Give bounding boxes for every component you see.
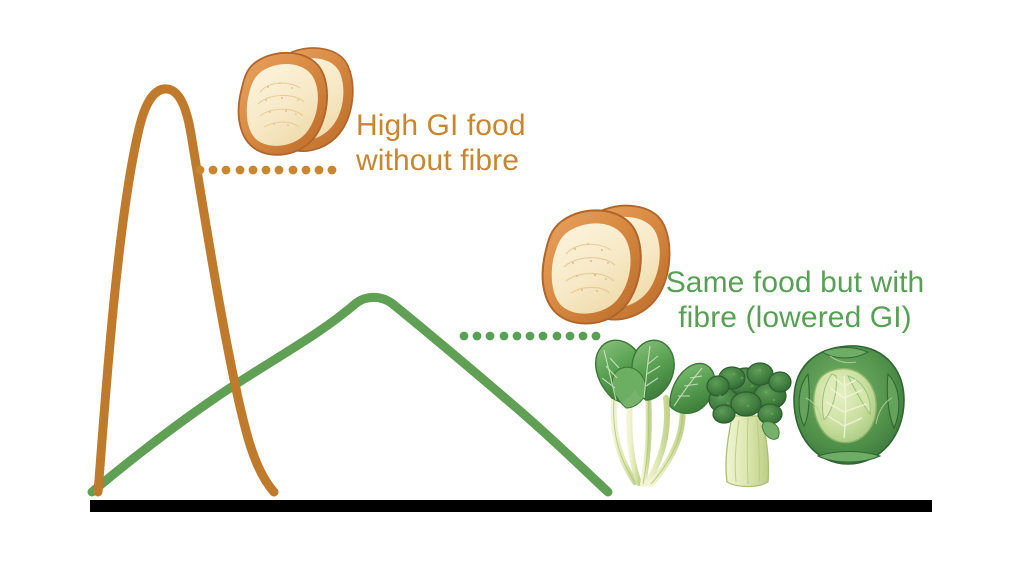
bread-slices-illustration bbox=[230, 38, 360, 166]
axis-baseline bbox=[90, 500, 932, 512]
cabbage-illustration bbox=[788, 340, 910, 470]
curve-low-gi bbox=[92, 297, 608, 492]
broccoli-florets bbox=[707, 363, 791, 424]
bread-slice-front bbox=[543, 210, 641, 323]
bread-slices-illustration bbox=[533, 194, 677, 336]
leader-dots-orange bbox=[196, 166, 337, 175]
broccoli-illustration bbox=[702, 356, 794, 490]
bread-slice-front bbox=[239, 53, 328, 155]
callout-low-gi-label: Same food but with fibre (lowered GI) bbox=[664, 266, 926, 336]
figure-canvas: High GI food without fibre Same food but… bbox=[0, 0, 1024, 584]
spinach-illustration bbox=[578, 338, 718, 490]
callout-high-gi-label: High GI food without fibre bbox=[356, 109, 526, 179]
